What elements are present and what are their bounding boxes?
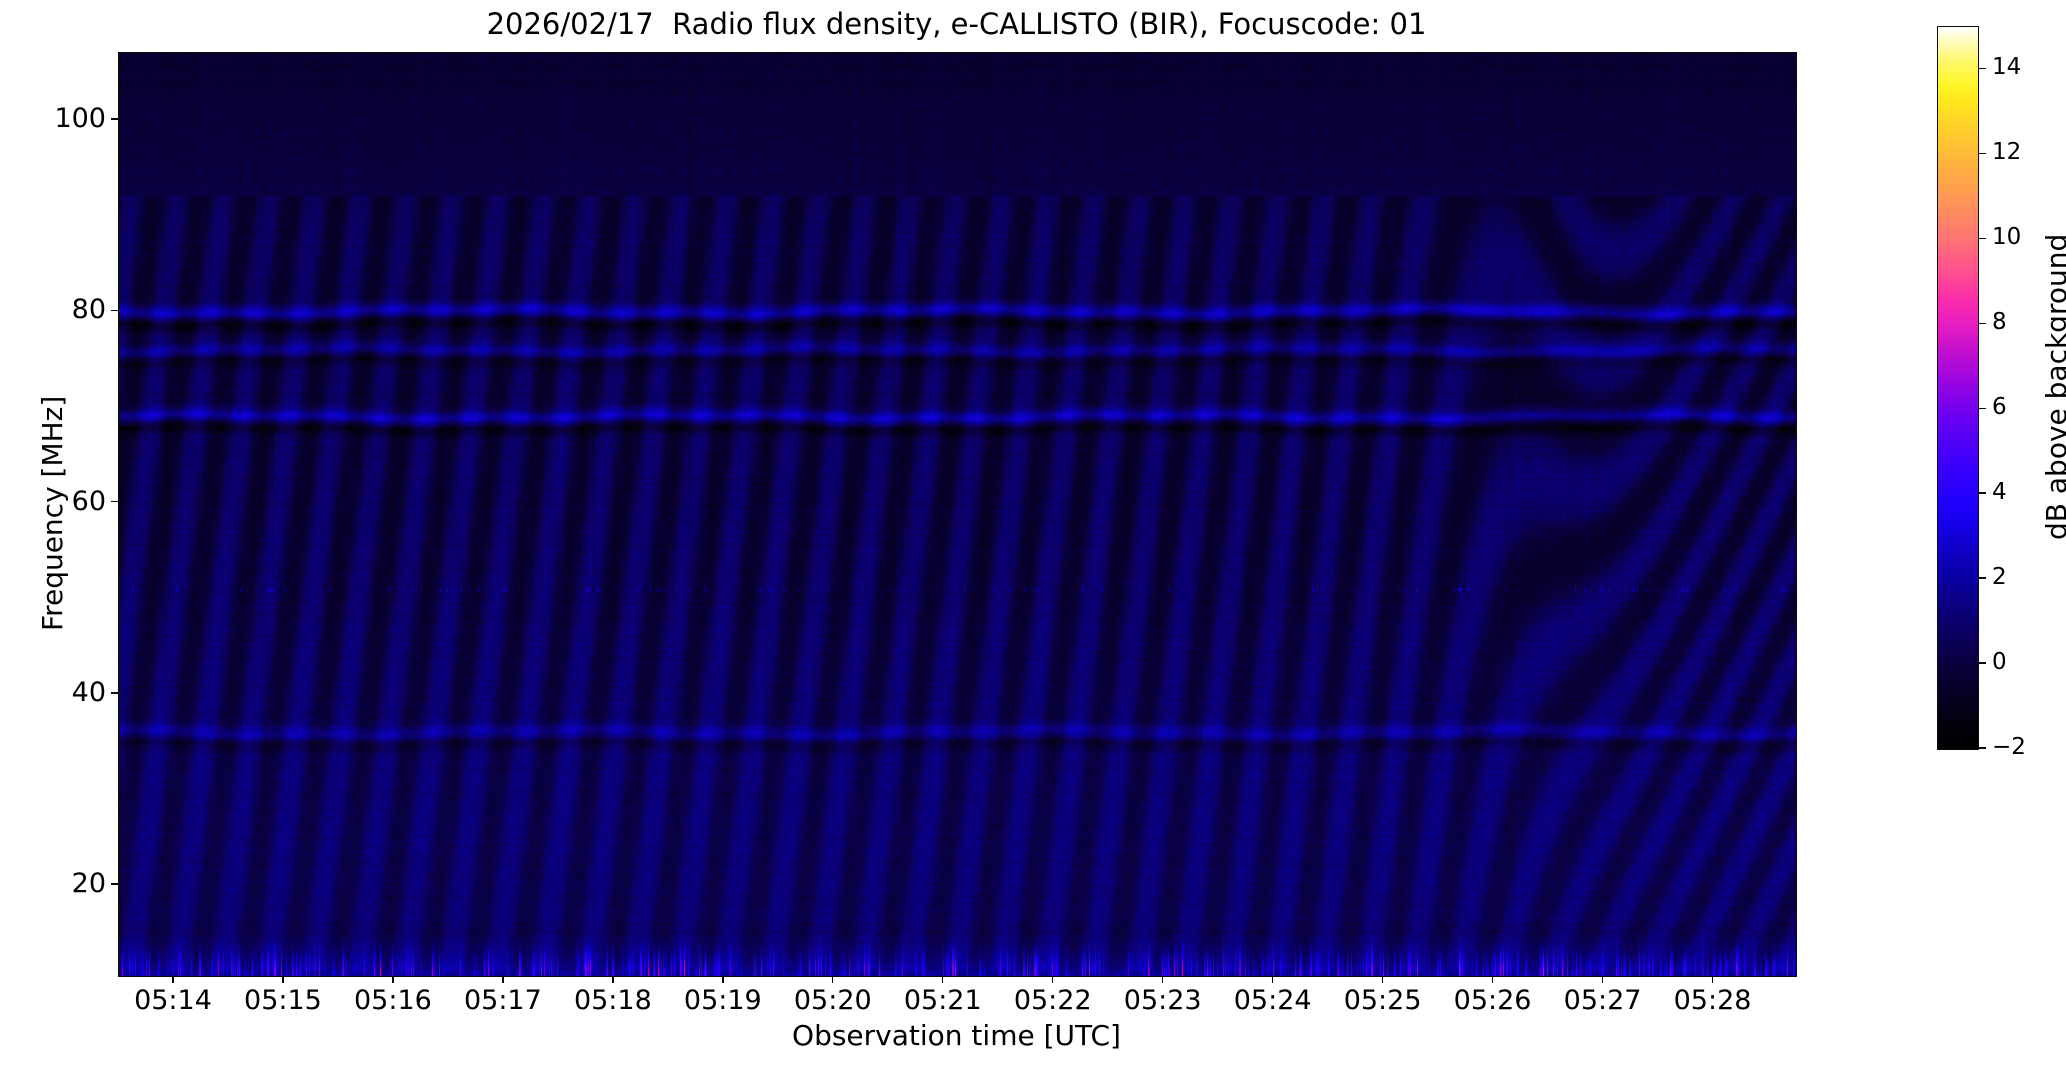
colorbar-tick-mark [1979, 238, 1986, 239]
colorbar-tick-mark [1979, 323, 1986, 324]
colorbar-tick-label: 10 [1992, 226, 2021, 249]
colorbar[interactable] [1937, 26, 1979, 750]
x-tick-label: 05:15 [244, 986, 322, 1016]
figure-canvas: 2026/02/17 Radio flux density, e-CALLIST… [0, 0, 2066, 1067]
colorbar-tick-label: 2 [1992, 566, 2007, 589]
colorbar-tick-label: 4 [1992, 481, 2007, 504]
colorbar-tick-mark [1979, 747, 1986, 748]
x-tick-mark [172, 976, 173, 983]
x-tick-label: 05:26 [1454, 986, 1532, 1016]
colorbar-tick-mark [1979, 153, 1986, 154]
x-tick-mark [1052, 976, 1053, 983]
x-tick-label: 05:25 [1344, 986, 1422, 1016]
x-tick-mark [502, 976, 503, 983]
x-tick-label: 05:20 [794, 986, 872, 1016]
x-tick-mark [942, 976, 943, 983]
y-tick-label: 100 [54, 105, 106, 132]
x-tick-mark [832, 976, 833, 983]
x-tick-mark [1602, 976, 1603, 983]
x-tick-mark [1162, 976, 1163, 983]
x-tick-mark [722, 976, 723, 983]
x-tick-label: 05:18 [574, 986, 652, 1016]
colorbar-tick-label: 14 [1992, 56, 2021, 79]
spectrogram-axes[interactable] [118, 52, 1797, 977]
x-tick-mark [1712, 976, 1713, 983]
x-tick-label: 05:19 [684, 986, 762, 1016]
x-tick-label: 05:24 [1234, 986, 1312, 1016]
x-tick-label: 05:14 [134, 986, 212, 1016]
x-tick-label: 05:22 [1014, 986, 1092, 1016]
colorbar-tick-label: 8 [1992, 311, 2007, 334]
spectrogram-image [119, 53, 1796, 976]
y-tick-mark [111, 310, 118, 311]
y-tick-label: 80 [72, 296, 106, 323]
x-tick-mark [1492, 976, 1493, 983]
page-title: 2026/02/17 Radio flux density, e-CALLIST… [118, 4, 1795, 44]
colorbar-gradient [1938, 27, 1978, 749]
x-tick-label: 05:17 [464, 986, 542, 1016]
colorbar-tick-label: 12 [1992, 141, 2021, 164]
y-axis-label: Frequency [MHz] [36, 396, 69, 631]
x-tick-label: 05:28 [1674, 986, 1752, 1016]
x-tick-label: 05:21 [904, 986, 982, 1016]
x-tick-mark [612, 976, 613, 983]
x-tick-label: 05:16 [354, 986, 432, 1016]
x-tick-mark [1272, 976, 1273, 983]
y-tick-mark [111, 883, 118, 884]
colorbar-tick-mark [1979, 662, 1986, 663]
colorbar-tick-mark [1979, 408, 1986, 409]
x-tick-mark [392, 976, 393, 983]
y-tick-label: 40 [72, 679, 106, 706]
y-tick-mark [111, 501, 118, 502]
x-tick-label: 05:27 [1564, 986, 1642, 1016]
colorbar-tick-label: 6 [1992, 396, 2007, 419]
colorbar-tick-label: −2 [1992, 736, 2026, 759]
x-tick-mark [282, 976, 283, 983]
x-tick-mark [1382, 976, 1383, 983]
colorbar-label: dB above background [2040, 234, 2066, 540]
colorbar-tick-mark [1979, 577, 1986, 578]
x-axis-label: Observation time [UTC] [118, 1019, 1795, 1052]
y-tick-label: 20 [72, 870, 106, 897]
y-tick-mark [111, 692, 118, 693]
colorbar-tick-mark [1979, 68, 1986, 69]
x-tick-label: 05:23 [1124, 986, 1202, 1016]
y-tick-mark [111, 118, 118, 119]
y-tick-label: 60 [72, 488, 106, 515]
colorbar-tick-label: 0 [1992, 651, 2007, 674]
colorbar-tick-mark [1979, 492, 1986, 493]
